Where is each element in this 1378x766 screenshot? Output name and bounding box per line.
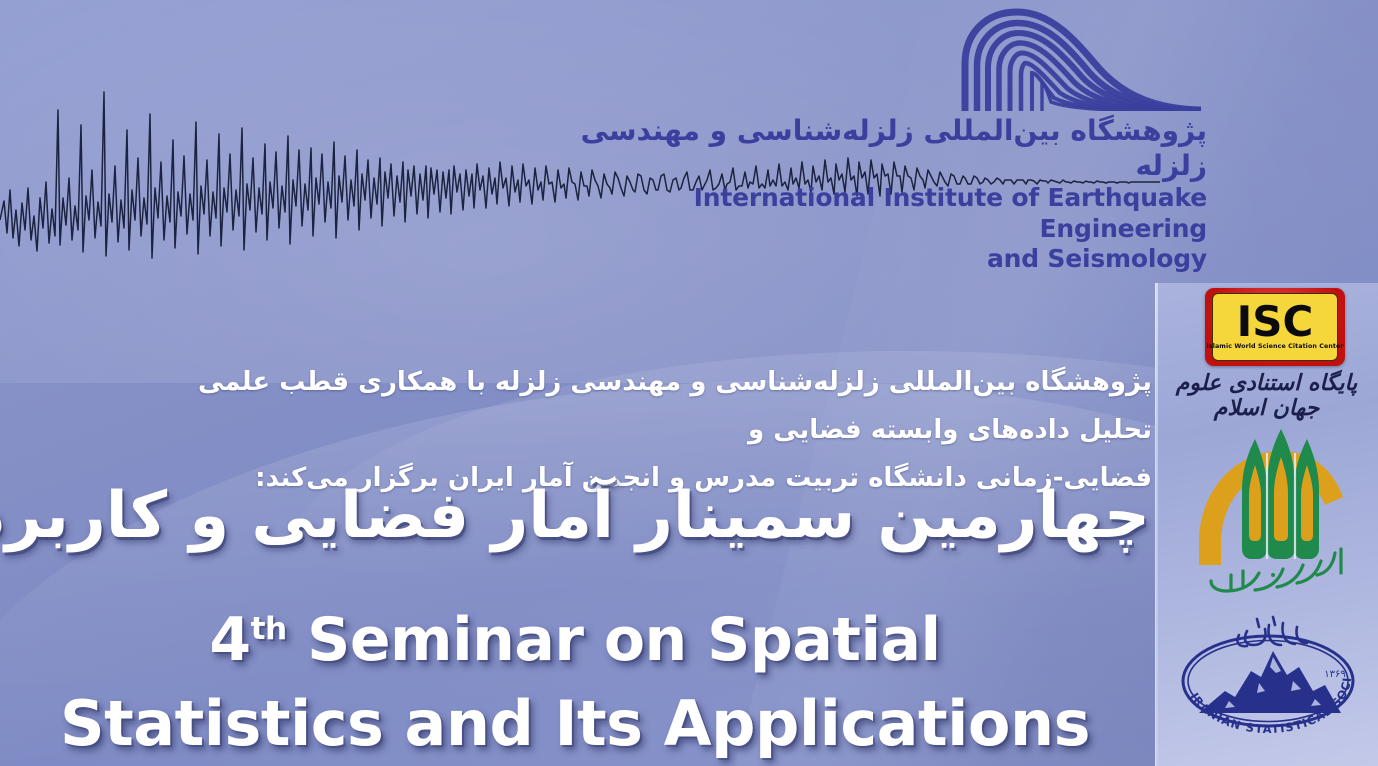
isc-subtitle: Islamic World Science Citation Center	[1206, 343, 1343, 350]
institute-name-fa: پژوهشگاه بین‌المللی زلزله‌شناسی و مهندسی…	[575, 113, 1215, 183]
svg-text:۱۳۶۹: ۱۳۶۹	[1324, 669, 1345, 680]
sponsor-logo-panel: ISC Islamic World Science Citation Cente…	[1155, 283, 1378, 766]
isc-caption-fa: پایگاه استنادی علوم جهان اسلام	[1155, 371, 1378, 421]
seminar-title-en-line1-rest: Seminar on Spatial	[287, 605, 941, 675]
isc-acronym: ISC	[1237, 303, 1314, 341]
seminar-title-fa: چهارمین سمینار آمار فضایی و کاربردهای آن	[0, 484, 1150, 548]
institute-name-en-line2: and Seismology	[575, 244, 1215, 275]
institute-name-en-line1: International Institute of Earthquake En…	[575, 183, 1215, 244]
ordinal-suffix: th	[251, 611, 287, 647]
ordinal-number: 4	[209, 605, 250, 675]
seminar-title-en-line1: 4th Seminar on Spatial	[0, 610, 1150, 670]
institute-logo-block: پژوهشگاه بین‌المللی زلزله‌شناسی و مهندسی…	[575, 6, 1215, 275]
isc-logo-panel: ISC Islamic World Science Citation Cente…	[1212, 293, 1338, 361]
seismic-wave-icon	[955, 6, 1205, 111]
panel-left-edge	[1155, 283, 1158, 766]
isc-logo-icon: ISC Islamic World Science Citation Cente…	[1205, 288, 1345, 366]
tarbiat-modares-logo-icon	[1185, 423, 1365, 608]
iranian-statistical-society-logo-icon: IRANIAN STATISTICAL SOCIETY 1990 ۱۳۶۹	[1169, 605, 1367, 757]
organizers-line-1: پژوهشگاه بین‌المللی زلزله‌شناسی و مهندسی…	[120, 358, 1152, 454]
seminar-title-en-line2: Statistics and Its Applications	[0, 693, 1150, 755]
poster-canvas: پژوهشگاه بین‌المللی زلزله‌شناسی و مهندسی…	[0, 0, 1378, 766]
